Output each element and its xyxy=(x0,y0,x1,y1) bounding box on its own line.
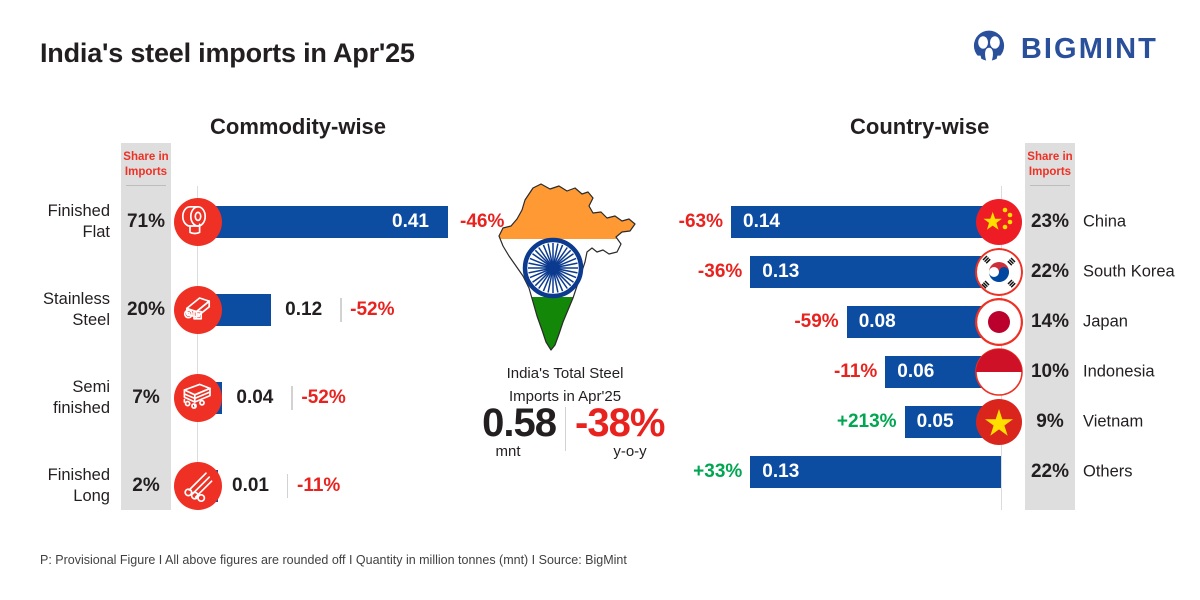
commodity-yoy: -11% xyxy=(297,475,340,497)
country-row: 0.13+33%22%Others xyxy=(660,446,1200,498)
label-line1: Finished xyxy=(0,465,110,486)
commodity-yoy: -52% xyxy=(301,387,345,409)
country-yoy: -36% xyxy=(698,261,742,283)
country-value: 0.14 xyxy=(743,211,780,233)
share-header-line2: Imports xyxy=(1025,165,1075,180)
label-line1: Semi xyxy=(0,377,110,398)
country-yoy: -59% xyxy=(794,311,838,333)
country-yoy: -63% xyxy=(679,211,723,233)
commodity-share-value: 20% xyxy=(121,299,171,321)
country-share-value: 23% xyxy=(1025,211,1075,233)
footer-note: P: Provisional Figure I All above figure… xyxy=(40,553,627,567)
kpi-divider xyxy=(565,407,566,451)
india-flag-map xyxy=(489,182,639,354)
value-divider xyxy=(291,386,292,410)
share-header-line1: Share in xyxy=(121,150,171,165)
commodity-row: FinishedFlat71% 0.41-46% xyxy=(0,196,560,248)
country-row: 0.06-11% 10%Indonesia xyxy=(660,346,1200,398)
label-line2: Flat xyxy=(0,222,110,243)
country-row: 0.05+213% 9%Vietnam xyxy=(660,396,1200,448)
share-header-rule xyxy=(126,185,166,186)
country-row: 0.14-63% 23%China xyxy=(660,196,1200,248)
commodity-share-value: 71% xyxy=(121,211,171,233)
commodity-label: Semifinished xyxy=(0,377,110,419)
flag-south-korea-icon xyxy=(975,248,1023,296)
label-line2: Steel xyxy=(0,310,110,331)
commodity-label: StainlessSteel xyxy=(0,289,110,331)
country-share-value: 22% xyxy=(1025,261,1075,283)
commodity-row: FinishedLong2% 0.01-11% xyxy=(0,460,560,512)
country-label: Indonesia xyxy=(1083,363,1155,382)
flag-indonesia-icon xyxy=(975,348,1023,396)
country-share-value: 9% xyxy=(1025,411,1075,433)
commodity-label: FinishedFlat xyxy=(0,201,110,243)
country-row: 0.13-36% 22%South Korea xyxy=(660,246,1200,298)
country-value: 0.06 xyxy=(897,361,934,383)
commodity-section-title: Commodity-wise xyxy=(210,114,386,140)
country-label: China xyxy=(1083,213,1126,232)
share-header-line2: Imports xyxy=(121,165,171,180)
page-title: India's steel imports in Apr'25 xyxy=(40,38,415,69)
value-divider xyxy=(287,474,288,498)
semi-finished-slabs-icon xyxy=(174,374,222,422)
country-value: 0.13 xyxy=(762,461,799,483)
flag-japan-icon xyxy=(975,298,1023,346)
commodity-row: StainlessSteel20% 0.12-52% xyxy=(0,284,560,336)
label-line1: Finished xyxy=(0,201,110,222)
flag-vietnam-icon xyxy=(975,398,1023,446)
flag-china-icon xyxy=(975,198,1023,246)
country-share-value: 22% xyxy=(1025,461,1075,483)
commodity-share-header: Share in Imports xyxy=(121,150,171,180)
label-line1: Stainless xyxy=(0,289,110,310)
logo-wordmark: BIGMINT xyxy=(1021,33,1158,66)
value-divider xyxy=(340,298,341,322)
country-row: 0.08-59% 14%Japan xyxy=(660,296,1200,348)
country-label: Vietnam xyxy=(1083,413,1143,432)
country-value: 0.05 xyxy=(917,411,954,433)
country-yoy: +213% xyxy=(837,411,897,433)
commodity-share-value: 7% xyxy=(121,387,171,409)
bigmint-logo: BIGMINT xyxy=(968,28,1158,70)
commodity-label: FinishedLong xyxy=(0,465,110,507)
country-label: Japan xyxy=(1083,313,1128,332)
long-bars-icon xyxy=(174,462,222,510)
total-unit: mnt xyxy=(460,443,556,460)
country-label: Others xyxy=(1083,463,1133,482)
steel-coil-icon xyxy=(174,198,222,246)
commodity-share-value: 2% xyxy=(121,475,171,497)
label-line2: finished xyxy=(0,398,110,419)
country-label: South Korea xyxy=(1083,263,1175,282)
commodity-value: 0.01 xyxy=(232,475,269,497)
commodity-value: 0.41 xyxy=(392,211,429,233)
label-line2: Long xyxy=(0,486,110,507)
country-value: 0.13 xyxy=(762,261,799,283)
commodity-value: 0.12 xyxy=(285,299,322,321)
stainless-tubes-icon xyxy=(174,286,222,334)
caption-line1: India's Total Steel xyxy=(440,362,690,385)
infographic-canvas: India's steel imports in Apr'25 BIGMINT … xyxy=(0,0,1200,600)
country-section-title: Country-wise xyxy=(850,114,989,140)
share-header-rule xyxy=(1030,185,1070,186)
bigmint-mascot-icon xyxy=(968,28,1010,70)
country-yoy: +33% xyxy=(693,461,742,483)
country-share-value: 14% xyxy=(1025,311,1075,333)
country-value: 0.08 xyxy=(859,311,896,333)
commodity-yoy: -52% xyxy=(350,299,394,321)
country-yoy: -11% xyxy=(834,361,877,383)
share-header-line1: Share in xyxy=(1025,150,1075,165)
country-share-value: 10% xyxy=(1025,361,1075,383)
total-imports-kpi: 0.58 mnt -38% y-o-y xyxy=(440,405,690,463)
total-value: 0.58 xyxy=(460,401,556,446)
commodity-value: 0.04 xyxy=(236,387,273,409)
country-share-header: Share in Imports xyxy=(1025,150,1075,180)
